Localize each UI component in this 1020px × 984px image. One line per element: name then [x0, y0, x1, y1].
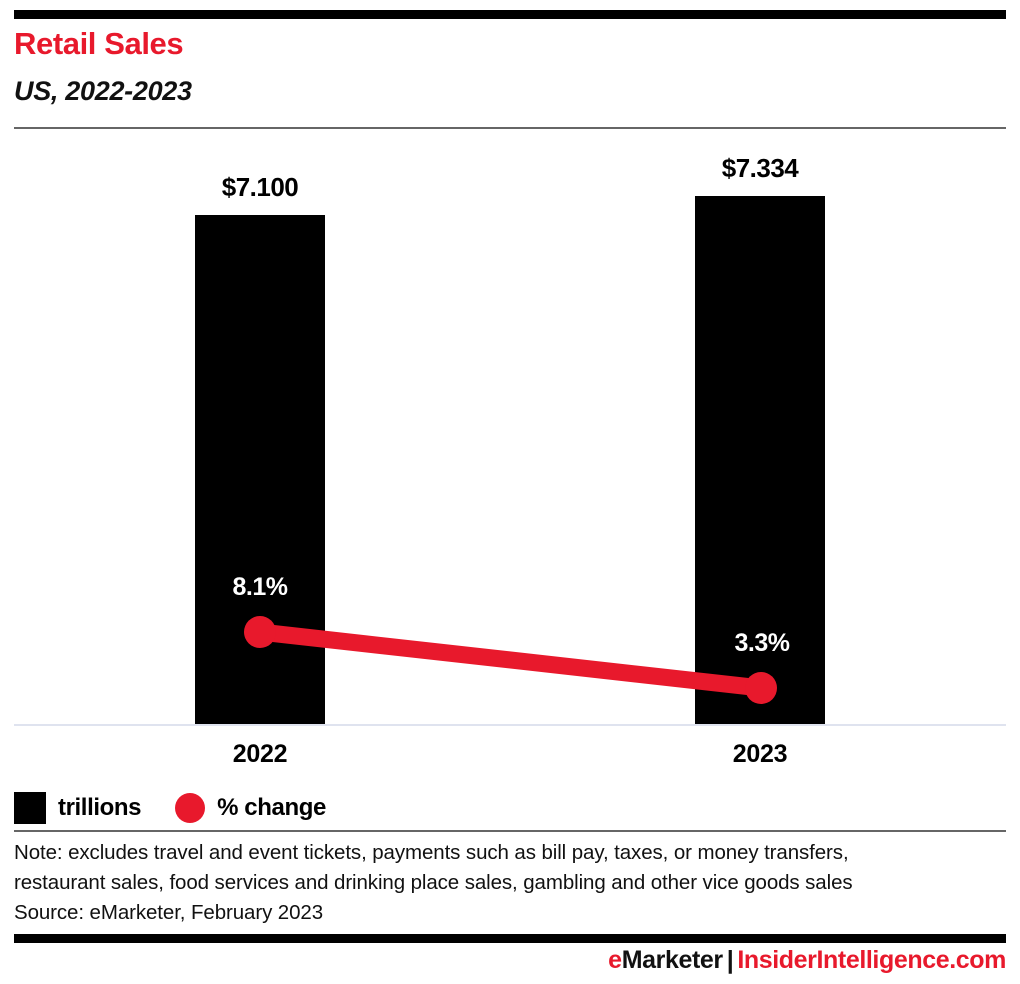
- header-divider: [14, 127, 1006, 129]
- legend-label-trillions: trillions: [58, 794, 141, 822]
- axis-baseline: [14, 724, 1006, 726]
- note-line-1: Note: excludes travel and event tickets,…: [14, 838, 1006, 868]
- chart-figure: Retail Sales US, 2022-2023 $7.100 $7.334…: [0, 0, 1020, 984]
- percent-label-2023: 3.3%: [662, 629, 862, 658]
- top-divider: [14, 10, 1006, 19]
- percent-label-2022: 8.1%: [160, 573, 360, 602]
- legend-label-percent-change: % change: [217, 794, 326, 822]
- brand-site[interactable]: InsiderIntelligence.com: [737, 946, 1006, 974]
- brand-separator: |: [723, 946, 738, 974]
- brand-attribution: eMarketer|InsiderIntelligence.com: [608, 946, 1006, 975]
- bar-value-2023: $7.334: [660, 153, 860, 184]
- brand-marketer: Marketer: [622, 946, 723, 974]
- plot-area: [0, 130, 1020, 730]
- brand-e: e: [608, 946, 622, 974]
- note-line-2: restaurant sales, food services and drin…: [14, 868, 1006, 898]
- xtick-2023: 2023: [660, 740, 860, 769]
- page-subtitle: US, 2022-2023: [14, 78, 192, 105]
- legend-square-icon: [14, 792, 46, 824]
- xtick-2022: 2022: [160, 740, 360, 769]
- note-divider: [14, 830, 1006, 832]
- chart-legend: trillions % change: [14, 792, 326, 824]
- note-block: Note: excludes travel and event tickets,…: [14, 838, 1006, 928]
- legend-circle-icon: [175, 793, 205, 823]
- legend-item-percent-change: % change: [175, 793, 326, 823]
- bottom-divider: [14, 934, 1006, 943]
- legend-item-trillions: trillions: [14, 792, 141, 824]
- bar-value-2022: $7.100: [160, 172, 360, 203]
- page-title: Retail Sales: [14, 28, 183, 59]
- source-line: Source: eMarketer, February 2023: [14, 898, 1006, 928]
- bar-2022: [195, 215, 325, 724]
